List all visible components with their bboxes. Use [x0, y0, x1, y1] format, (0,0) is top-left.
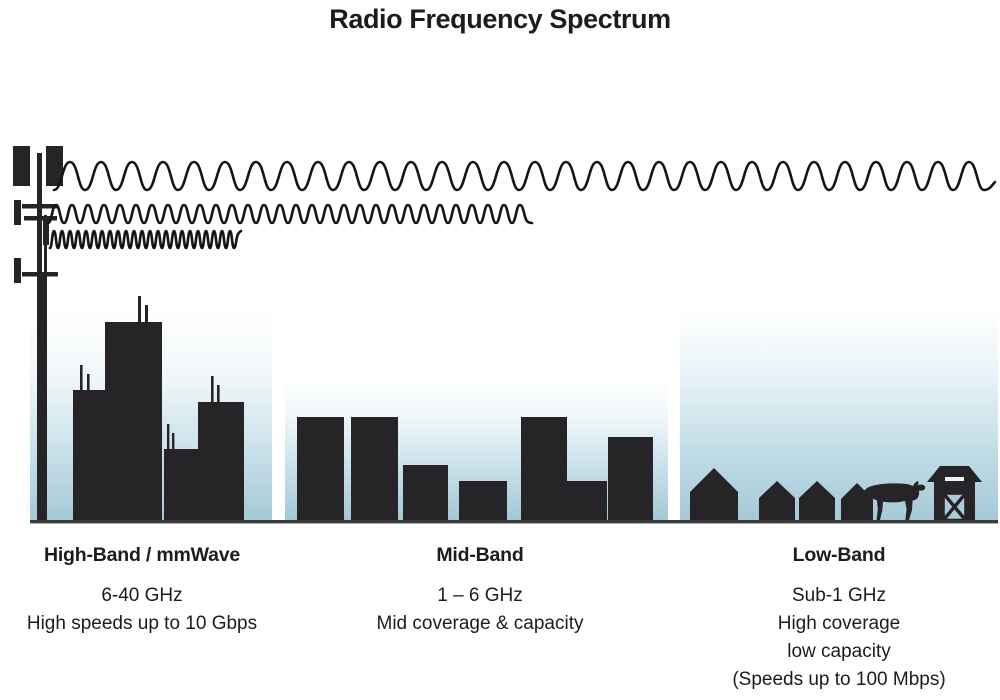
antenna-spire [80, 365, 83, 393]
building [459, 481, 507, 520]
tower-mast-secondary [44, 215, 47, 520]
tower-antenna-panel [14, 258, 21, 283]
antenna-spire [167, 424, 169, 450]
band-title-low-band: Low-Band [680, 544, 998, 567]
tower-mast-foot [40, 276, 44, 520]
ground-line [30, 520, 998, 523]
skyscraper [105, 322, 162, 520]
band-detail-low-band-speeds: (Speeds up to 100 Mbps) [680, 666, 998, 694]
band-frequency-low-band: Sub-1 GHz [680, 582, 998, 610]
band-detail-mid-band: Mid coverage & capacity [290, 610, 670, 638]
band-detail-low-band-coverage: High coverage [680, 610, 998, 638]
band-captions: High-Band / mmWave 6-40 GHz High speeds … [0, 544, 1000, 700]
skyscraper [198, 402, 244, 520]
building [567, 481, 607, 520]
low-band-wave [54, 162, 995, 190]
band-caption-low-band: Low-Band Sub-1 GHz High coverage low cap… [680, 544, 998, 694]
band-caption-high-band: High-Band / mmWave 6-40 GHz High speeds … [10, 544, 274, 638]
band-description-mid-band: 1 – 6 GHz Mid coverage & capacity [290, 582, 670, 638]
tower-antenna-panel [13, 146, 30, 186]
band-title-mid-band: Mid-Band [290, 544, 670, 567]
tower-antenna-panel [14, 200, 21, 225]
building [351, 417, 398, 520]
band-description-low-band: Sub-1 GHz High coverage low capacity (Sp… [680, 582, 998, 694]
antenna-spire [172, 433, 174, 451]
band-detail-high-band: High speeds up to 10 Gbps [10, 610, 274, 638]
building [521, 417, 567, 520]
mid-band-wave [48, 205, 532, 223]
antenna-spire [211, 376, 214, 404]
band-title-high-band: High-Band / mmWave [10, 544, 274, 567]
barn-hayloft-window [945, 477, 964, 481]
band-description-high-band: 6-40 GHz High speeds up to 10 Gbps [10, 582, 274, 638]
band-frequency-high-band: 6-40 GHz [10, 582, 274, 610]
tower-crossbar [22, 272, 58, 277]
building [297, 417, 344, 520]
band-frequency-mid-band: 1 – 6 GHz [290, 582, 670, 610]
building [608, 437, 653, 520]
high-band-wave [50, 231, 241, 248]
building [403, 465, 448, 520]
radio-waves [48, 162, 995, 248]
band-caption-mid-band: Mid-Band 1 – 6 GHz Mid coverage & capaci… [290, 544, 670, 638]
band-detail-low-band-capacity: low capacity [680, 638, 998, 666]
antenna-spire [138, 296, 141, 326]
